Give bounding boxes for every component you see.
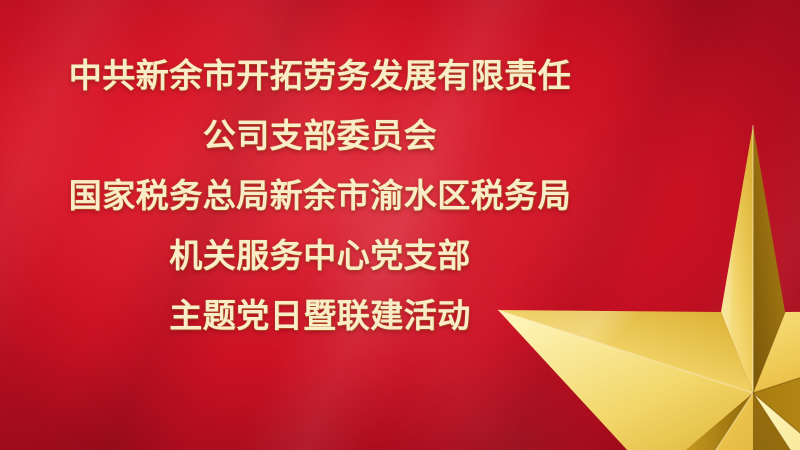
- headline-line-5: 主题党日暨联建活动: [0, 286, 640, 346]
- headline-line-3: 国家税务总局新余市渝水区税务局: [0, 166, 640, 226]
- party-event-banner: 中共新余市开拓劳务发展有限责任 公司支部委员会 国家税务总局新余市渝水区税务局 …: [0, 0, 800, 450]
- headline-line-1: 中共新余市开拓劳务发展有限责任: [0, 46, 640, 106]
- headline-line-2: 公司支部委员会: [0, 106, 640, 166]
- headline-block: 中共新余市开拓劳务发展有限责任 公司支部委员会 国家税务总局新余市渝水区税务局 …: [0, 46, 640, 346]
- headline-line-4: 机关服务中心党支部: [0, 226, 640, 286]
